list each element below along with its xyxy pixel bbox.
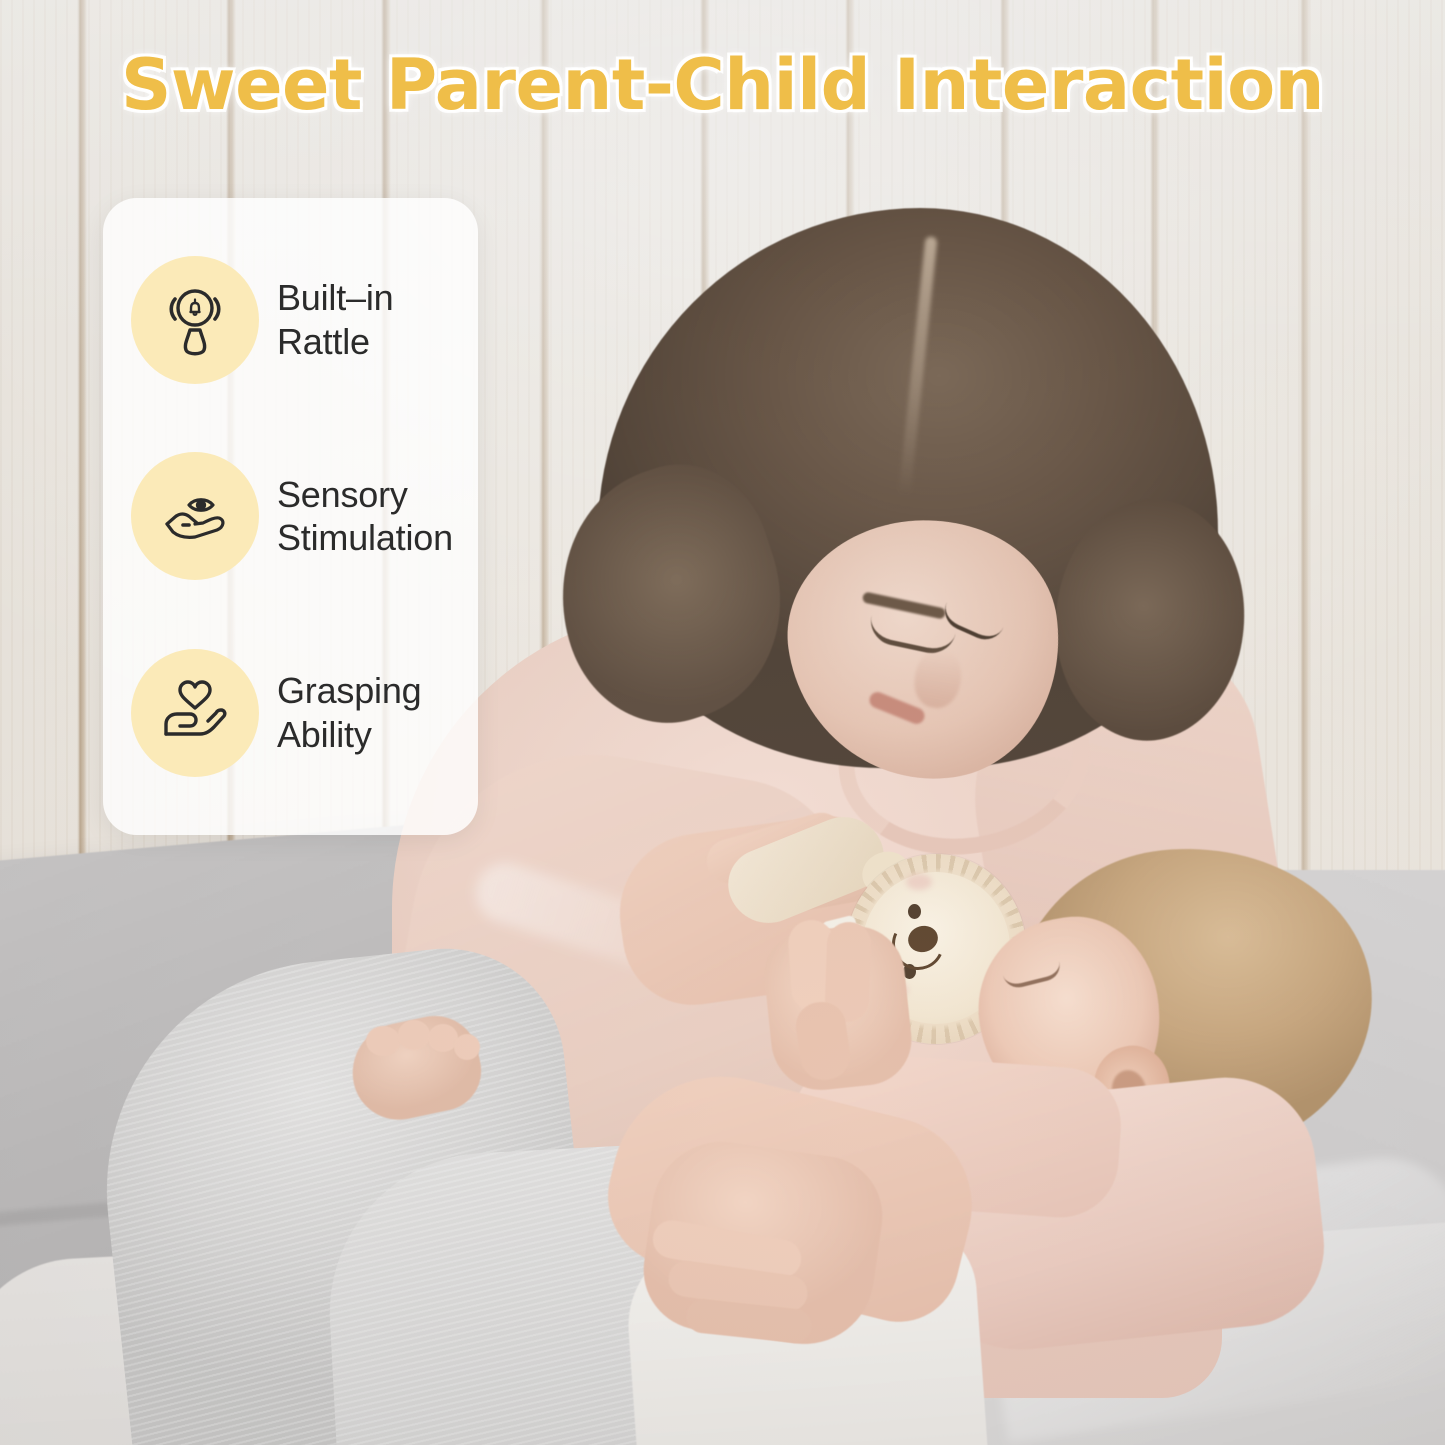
toe (398, 1020, 430, 1050)
heart-in-hand-icon (131, 649, 259, 777)
feature-item-rattle[interactable]: Built–in Rattle (103, 240, 478, 400)
feature-label: Sensory Stimulation (277, 473, 453, 561)
eye-in-hand-icon (131, 452, 259, 580)
rattle-bell-icon (131, 256, 259, 384)
feature-label: Built–in Rattle (277, 276, 393, 364)
lion-toy-cheek (906, 874, 932, 890)
toe (366, 1026, 400, 1056)
toe (454, 1034, 480, 1060)
feature-label: Grasping Ability (277, 669, 421, 757)
feature-card: Built–in Rattle Sensory Stimulation (103, 198, 478, 835)
promo-image: Sweet Parent-Child Interaction Built–in … (0, 0, 1445, 1445)
feature-item-sensory[interactable]: Sensory Stimulation (103, 436, 478, 596)
feature-item-grasping[interactable]: Grasping Ability (103, 633, 478, 793)
page-title: Sweet Parent-Child Interaction (0, 44, 1445, 126)
